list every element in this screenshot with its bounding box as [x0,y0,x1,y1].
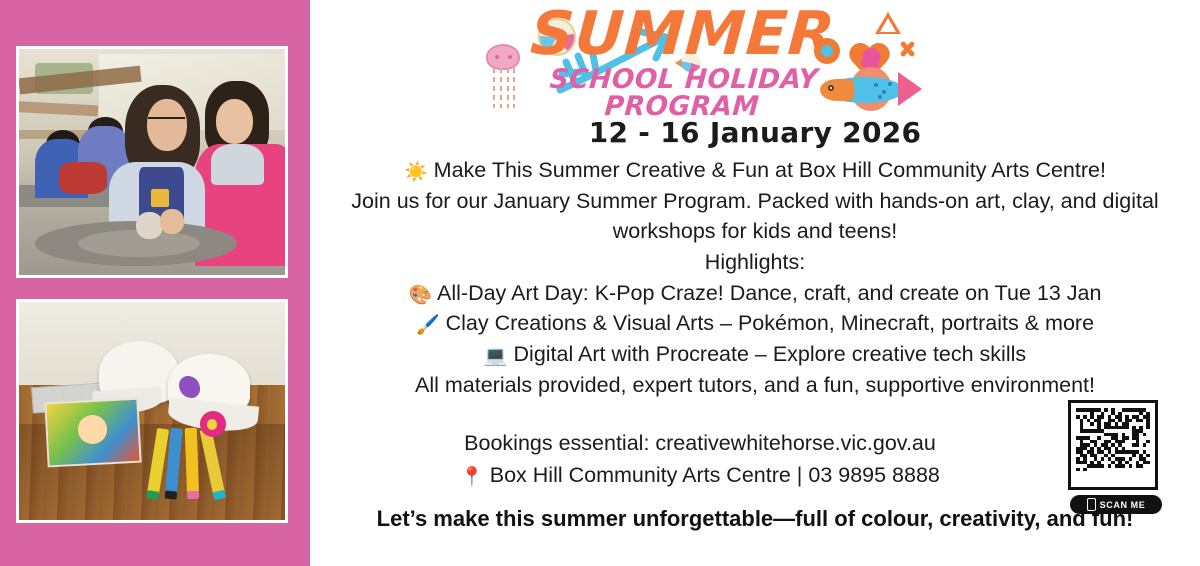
venue-line: 📍 Box Hill Community Arts Centre | 03 98… [310,459,1090,492]
description-line-5-text: Digital Art with Procreate – Explore cre… [514,342,1027,366]
sun-icon: ☀️ [404,161,428,183]
description-line-3-text: All-Day Art Day: K-Pop Craze! Dance, cra… [437,281,1101,305]
sidebar-photo-panel [0,0,310,566]
header-banner: SUMMER SCHOOL HOLIDAY PROGRAM [310,0,1200,118]
content-panel: SUMMER SCHOOL HOLIDAY PROGRAM 12 - 16 Ja… [310,0,1200,566]
description-line-0: ☀️ Make This Summer Creative & Fun at Bo… [326,155,1184,186]
venue-text: Box Hill Community Arts Centre | 03 9895… [490,463,940,487]
photo-pottery-class [16,46,288,278]
photo-craft-supplies-image [19,302,285,520]
description-line-6-text: All materials provided, expert tutors, a… [415,373,1095,397]
description-line-1: Join us for our January Summer Program. … [326,186,1184,247]
booking-info: Bookings essential: creativewhitehorse.v… [310,427,1200,492]
poster-root: SUMMER SCHOOL HOLIDAY PROGRAM 12 - 16 Ja… [0,0,1200,566]
closing-tagline: Let’s make this summer unforgettable—ful… [310,506,1200,532]
bookings-url-text[interactable]: Bookings essential: creativewhitehorse.v… [464,431,936,455]
description-line-1-text: Join us for our January Summer Program. … [351,189,1158,244]
photo-pottery-class-image [19,49,285,275]
program-description: ☀️ Make This Summer Creative & Fun at Bo… [310,155,1200,401]
location-pin-icon: 📍 [460,466,484,488]
bookings-line[interactable]: Bookings essential: creativewhitehorse.v… [310,427,1090,459]
description-line-4-text: Clay Creations & Visual Arts – Pokémon, … [446,311,1094,335]
description-line-6: All materials provided, expert tutors, a… [326,370,1184,401]
description-line-3: 🎨 All-Day Art Day: K-Pop Craze! Dance, c… [326,278,1184,309]
circle-icon [814,38,840,64]
triangle-icon [875,12,901,34]
description-line-0-text: Make This Summer Creative & Fun at Box H… [434,158,1106,182]
qr-code-block[interactable]: SCAN ME [1068,400,1164,514]
x-mark-icon [898,40,916,58]
paintbrush-icon: 🖌️ [416,314,440,336]
photo-craft-supplies [16,299,288,523]
qr-code-modules [1076,408,1150,482]
palette-icon: 🎨 [409,284,433,306]
description-line-4: 🖌️ Clay Creations & Visual Arts – Pokémo… [326,308,1184,339]
qr-code[interactable] [1068,400,1158,490]
fish-icon [818,66,922,112]
description-line-2: Highlights: [326,247,1184,278]
description-line-2-text: Highlights: [705,250,805,274]
description-line-5: 💻 Digital Art with Procreate – Explore c… [326,339,1184,370]
laptop-icon: 💻 [484,345,508,367]
